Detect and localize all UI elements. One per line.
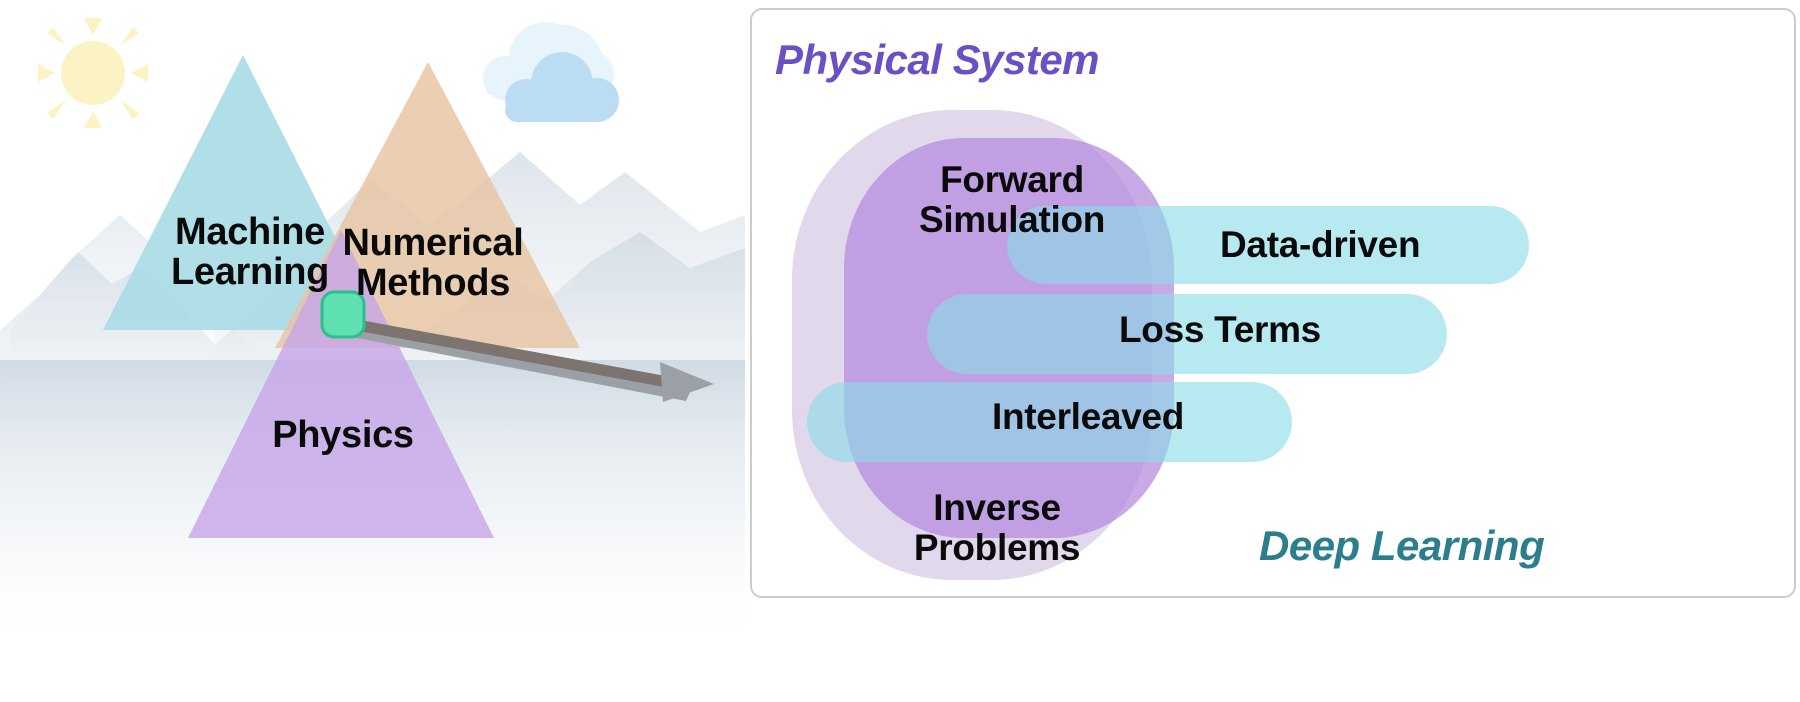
right-panel: Physical System Deep Learning Forward Si… bbox=[750, 8, 1796, 598]
triangle-label-physics: Physics bbox=[248, 415, 438, 455]
triangle-label-machine-learning: Machine Learning bbox=[155, 212, 345, 293]
panel-title-physical-system: Physical System bbox=[775, 36, 1099, 84]
blob-label-inverse-problems: Inverse Problems bbox=[877, 488, 1117, 568]
sun-icon bbox=[38, 18, 148, 128]
triangle-label-numerical-methods: Numerical Methods bbox=[333, 223, 533, 304]
diagram-root: Machine Learning Numerical Methods Physi… bbox=[0, 0, 1800, 702]
panel-title-deep-learning: Deep Learning bbox=[1259, 522, 1544, 570]
capsule-label-loss-terms: Loss Terms bbox=[1119, 309, 1321, 351]
left-scene-graphics bbox=[0, 0, 745, 702]
capsule-label-interleaved: Interleaved bbox=[992, 396, 1184, 438]
blob-label-forward-simulation: Forward Simulation bbox=[892, 160, 1132, 240]
capsule-label-data-driven: Data-driven bbox=[1220, 224, 1420, 266]
left-scene: Machine Learning Numerical Methods Physi… bbox=[0, 0, 745, 702]
